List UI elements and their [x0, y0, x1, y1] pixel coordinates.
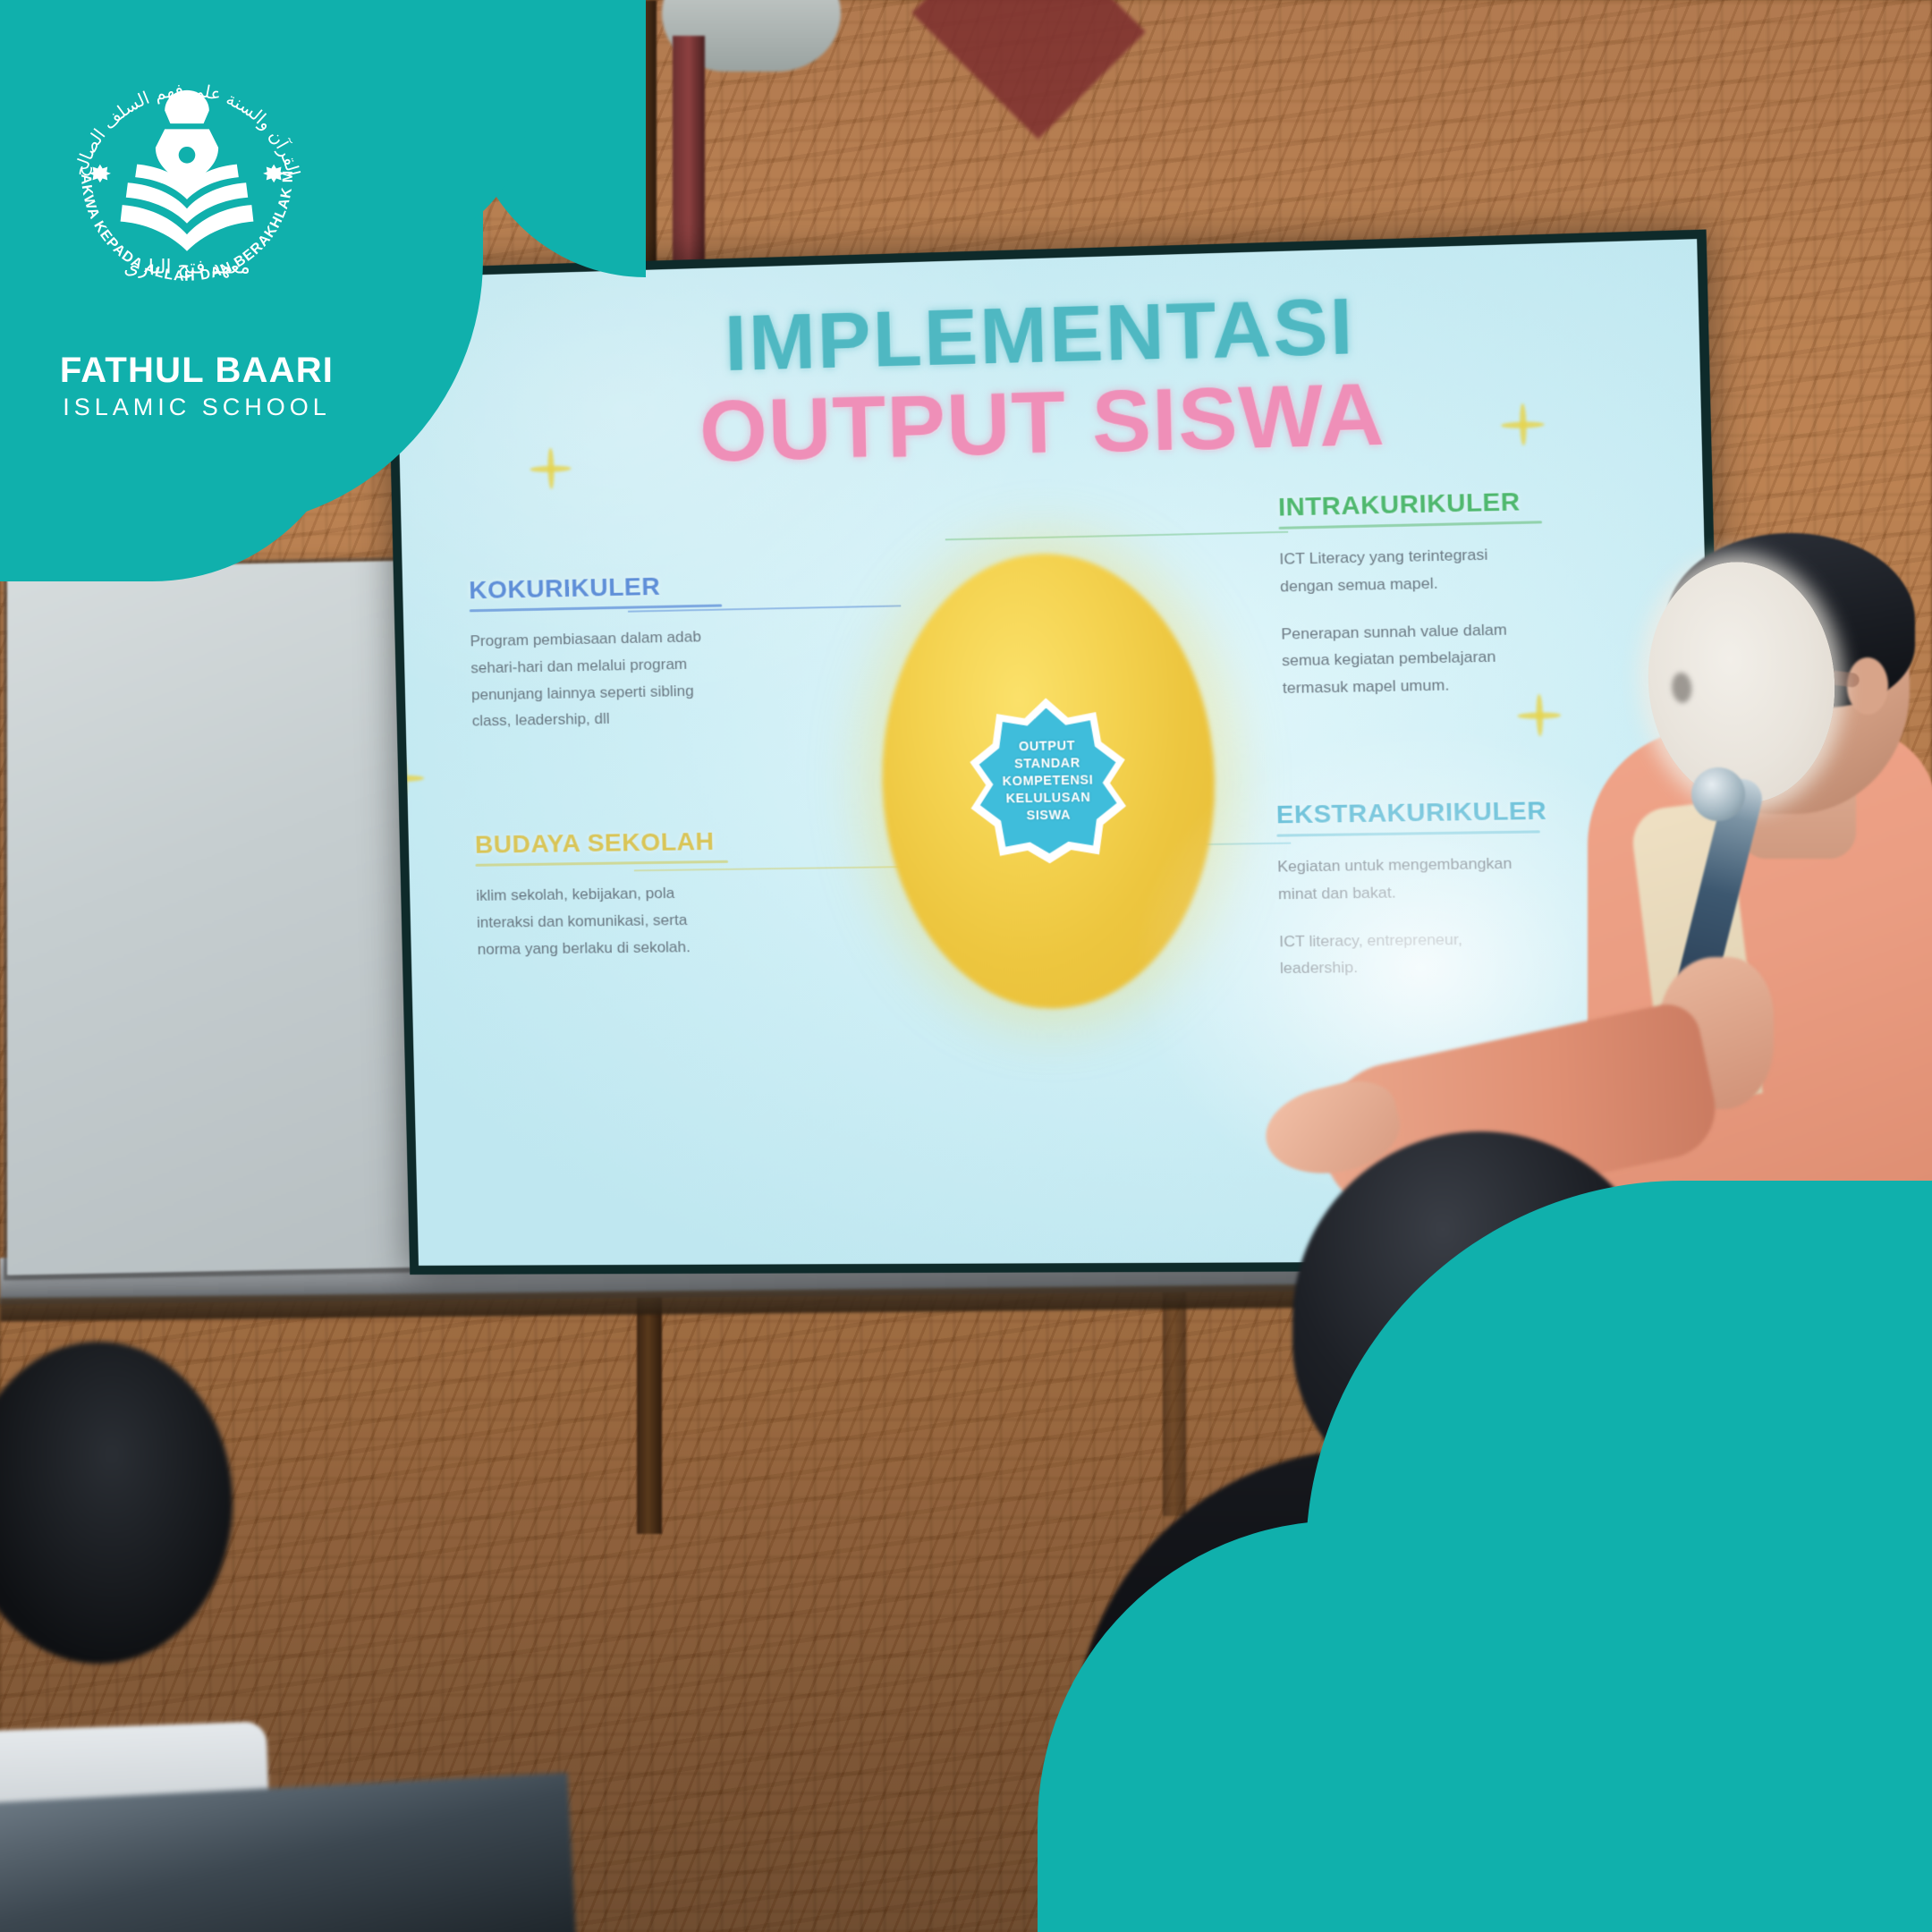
quadrant-heading: INTRAKURIKULER	[1278, 487, 1542, 522]
quadrant-body: Kegiatan untuk mengembangkan minat dan b…	[1277, 850, 1544, 982]
quadrant-kokurikuler: KOKURIKULER Program pembiasaan dalam ada…	[469, 571, 725, 734]
quadrant-rule	[475, 860, 728, 867]
slide-title: IMPLEMENTASI OUTPUT SISWA	[396, 275, 1702, 485]
badge-line: SISWA	[1026, 806, 1071, 824]
quadrant-paragraph: Program pembiasaan dalam adab sehari-har…	[470, 623, 724, 735]
badge-line: KELULUSAN	[1005, 789, 1090, 808]
quadrant-paragraph: Penerapan sunnah value dalam semua kegia…	[1281, 615, 1546, 702]
microphone-head	[1691, 767, 1745, 821]
badge-line: KOMPETENSI	[1002, 771, 1093, 790]
brand-name: FATHUL BAARI	[27, 351, 367, 391]
quadrant-rule	[1279, 521, 1543, 530]
quadrant-heading: BUDAYA SEKOLAH	[475, 826, 728, 859]
svg-text:معهد فتح البارى: معهد فتح البارى	[123, 257, 250, 279]
badge-line: OUTPUT	[1019, 737, 1076, 755]
brand-subtitle: ISLAMIC SCHOOL	[27, 394, 367, 421]
badge-line: STANDAR	[1014, 754, 1080, 772]
quadrant-heading: KOKURIKULER	[469, 571, 722, 605]
roof-post	[673, 36, 705, 268]
quadrant-budaya-sekolah: BUDAYA SEKOLAH iklim sekolah, kebijakan,…	[475, 826, 731, 962]
quadrant-intrakurikuler: INTRAKURIKULER ICT Literacy yang terinte…	[1278, 487, 1546, 702]
center-badge: OUTPUT STANDAR KOMPETENSI KELULUSAN SISW…	[969, 697, 1128, 865]
quadrant-paragraph: Kegiatan untuk mengembangkan minat dan b…	[1277, 850, 1542, 908]
quadrant-rule	[1276, 830, 1540, 836]
quadrant-ekstrakurikuler: EKSTRAKURIKULER Kegiatan untuk mengemban…	[1275, 796, 1543, 982]
quadrant-paragraph: iklim sekolah, kebijakan, pola interaksi…	[476, 879, 731, 962]
quadrant-body: Program pembiasaan dalam adab sehari-har…	[470, 623, 724, 735]
screenshot-canvas: IMPLEMENTASI OUTPUT SISWA OUTPUT STANDAR…	[0, 0, 1932, 1932]
quadrant-paragraph: ICT literacy, entrepreneur, leadership.	[1279, 925, 1544, 982]
school-logo-icon: القرآن والسنة على فهم السلف الصالح BERTA…	[48, 32, 326, 318]
quadrant-heading: EKSTRAKURIKULER	[1275, 796, 1539, 829]
quadrant-rule	[470, 604, 722, 612]
quadrant-body: iklim sekolah, kebijakan, pola interaksi…	[476, 879, 731, 962]
quadrant-body: ICT Literacy yang terintegrasi dengan se…	[1279, 540, 1546, 702]
quadrant-paragraph: ICT Literacy yang terintegrasi dengan se…	[1279, 540, 1544, 600]
